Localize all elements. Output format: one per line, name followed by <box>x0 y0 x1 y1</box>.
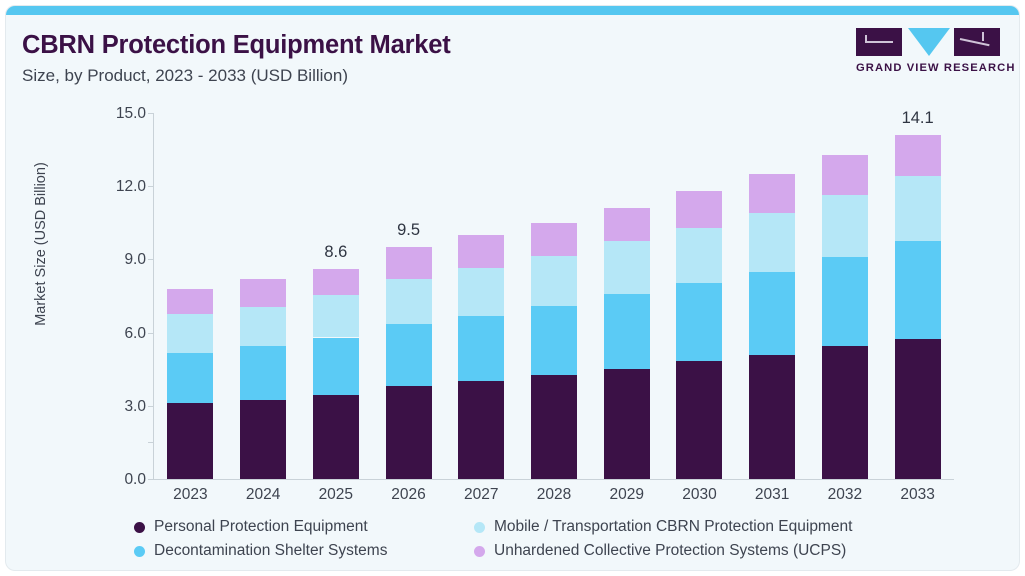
x-axis-tick-label: 2030 <box>659 486 739 504</box>
bar-segment[interactable] <box>676 191 722 228</box>
bar-segment[interactable] <box>822 195 868 257</box>
plot-area: 8.69.514.1 <box>154 113 954 479</box>
y-axis-tick-label: 3.0 <box>86 398 146 416</box>
bar-segment[interactable] <box>531 223 577 256</box>
bar-segment[interactable] <box>313 295 359 338</box>
chart-card: CBRN Protection Equipment Market Size, b… <box>6 6 1019 570</box>
bar-segment[interactable] <box>604 208 650 241</box>
legend-swatch-icon <box>474 522 485 533</box>
legend-item-label: Mobile / Transportation CBRN Protection … <box>494 518 852 536</box>
x-axis-tick-label: 2029 <box>587 486 667 504</box>
legend-item-label: Decontamination Shelter Systems <box>154 542 387 560</box>
legend-item-label: Personal Protection Equipment <box>154 518 368 536</box>
bar-segment[interactable] <box>386 324 432 386</box>
bar-segment[interactable] <box>895 241 941 339</box>
y-axis-tick-mark <box>148 479 154 480</box>
bar-segment[interactable] <box>604 294 650 370</box>
y-axis-tick-mark <box>148 186 154 187</box>
legend-swatch-icon <box>134 522 145 533</box>
legend-swatch-icon <box>134 546 145 557</box>
bar-segment[interactable] <box>458 381 504 479</box>
grand-view-research-logo: GRAND VIEW RESEARCH <box>856 28 1006 80</box>
y-axis-label: Market Size (USD Billion) <box>33 114 49 374</box>
x-axis-tick-label: 2032 <box>805 486 885 504</box>
bar-segment[interactable] <box>240 400 286 479</box>
bar-segment[interactable] <box>386 279 432 324</box>
x-axis-tick-label: 2031 <box>732 486 812 504</box>
logo-triangle-icon <box>908 28 950 56</box>
x-axis-tick-label: 2027 <box>441 486 521 504</box>
bar-segment[interactable] <box>313 395 359 479</box>
bar-segment[interactable] <box>167 403 213 479</box>
bar-segment[interactable] <box>895 339 941 479</box>
bar-segment[interactable] <box>458 316 504 382</box>
y-axis-tick-mark <box>148 259 154 260</box>
bar-segment[interactable] <box>458 235 504 268</box>
bar-segment[interactable] <box>749 355 795 479</box>
bar-segment[interactable] <box>167 353 213 403</box>
bar-segment[interactable] <box>531 256 577 306</box>
x-axis-tick-label: 2028 <box>514 486 594 504</box>
y-axis-tick-label: 0.0 <box>86 471 146 489</box>
bar-segment[interactable] <box>386 247 432 279</box>
bar-segment[interactable] <box>167 289 213 315</box>
y-axis-tick-label: 6.0 <box>86 325 146 343</box>
x-axis-tick-label: 2025 <box>296 486 376 504</box>
bar-segment[interactable] <box>604 369 650 479</box>
x-axis-tick-label: 2026 <box>369 486 449 504</box>
x-axis-line <box>153 479 954 480</box>
x-axis-tick-label: 2033 <box>878 486 958 504</box>
bar-segment[interactable] <box>386 386 432 479</box>
bar-segment[interactable] <box>676 283 722 361</box>
bar-segment[interactable] <box>240 307 286 346</box>
bar-segment[interactable] <box>895 176 941 241</box>
bar-segment[interactable] <box>604 241 650 293</box>
bar-segment[interactable] <box>822 155 868 195</box>
legend-item[interactable]: Mobile / Transportation CBRN Protection … <box>474 518 852 536</box>
logo-wordmark: GRAND VIEW RESEARCH <box>856 62 1006 74</box>
bar-segment[interactable] <box>822 346 868 479</box>
y-axis-tick-labels: 0.03.06.09.012.015.0 <box>80 113 146 479</box>
legend-item[interactable]: Personal Protection Equipment <box>134 518 368 536</box>
bar-segment[interactable] <box>167 314 213 353</box>
logo-left-notch-icon <box>865 41 893 43</box>
x-axis-tick-label: 2023 <box>150 486 230 504</box>
bar-segment[interactable] <box>240 279 286 307</box>
top-accent-bar <box>6 6 1019 15</box>
chart-legend: Personal Protection EquipmentMobile / Tr… <box>134 518 924 564</box>
y-axis-tick-label: 12.0 <box>86 178 146 196</box>
logo-right-notch-vertical-icon <box>982 32 984 41</box>
bar-total-label: 9.5 <box>369 221 449 240</box>
bar-segment[interactable] <box>895 135 941 176</box>
legend-item[interactable]: Decontamination Shelter Systems <box>134 542 387 560</box>
page-subtitle: Size, by Product, 2023 - 2033 (USD Billi… <box>22 66 348 86</box>
bar-total-label: 8.6 <box>296 243 376 262</box>
bar-segment[interactable] <box>531 306 577 376</box>
bar-segment[interactable] <box>676 361 722 479</box>
y-axis-tick-label: 9.0 <box>86 251 146 269</box>
x-axis-tick-label: 2024 <box>223 486 303 504</box>
bar-segment[interactable] <box>313 338 359 395</box>
y-axis-tick-mark <box>148 406 154 407</box>
bar-total-label: 14.1 <box>878 109 958 128</box>
legend-item[interactable]: Unhardened Collective Protection Systems… <box>474 542 846 560</box>
bar-segment[interactable] <box>458 268 504 316</box>
bar-segment[interactable] <box>313 269 359 295</box>
y-axis-tick-mark <box>148 333 154 334</box>
y-axis-minor-tick-mark <box>148 442 154 443</box>
bar-segment[interactable] <box>531 375 577 479</box>
bar-segment[interactable] <box>749 272 795 355</box>
page-title: CBRN Protection Equipment Market <box>22 31 451 60</box>
bar-segment[interactable] <box>749 213 795 272</box>
bar-segment[interactable] <box>749 174 795 213</box>
legend-item-label: Unhardened Collective Protection Systems… <box>494 542 846 560</box>
y-axis-tick-mark <box>148 113 154 114</box>
y-axis-tick-label: 15.0 <box>86 105 146 123</box>
bar-segment[interactable] <box>822 257 868 346</box>
legend-swatch-icon <box>474 546 485 557</box>
bar-segment[interactable] <box>240 346 286 400</box>
bar-segment[interactable] <box>676 228 722 283</box>
logo-left-notch-vertical-icon <box>865 35 867 43</box>
